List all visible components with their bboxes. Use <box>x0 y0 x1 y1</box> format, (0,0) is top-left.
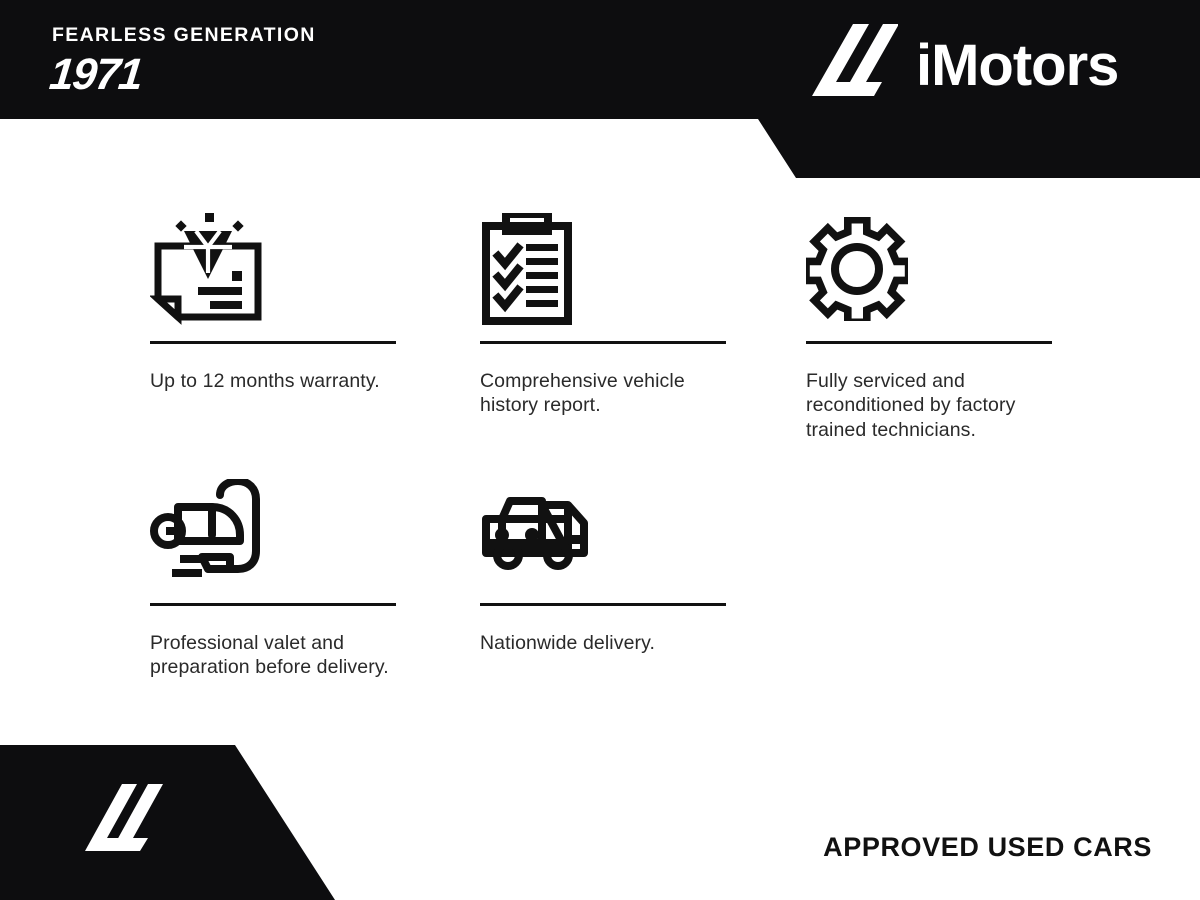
feature-card-delivery: Nationwide delivery. <box>480 472 726 655</box>
feature-text-history-report: Comprehensive vehicle history report. <box>480 369 726 418</box>
feature-divider <box>480 603 726 606</box>
footer-background-shape <box>0 745 1200 900</box>
brand-name-text: iMotors <box>916 37 1118 95</box>
car-transporter-truck-icon <box>480 472 726 590</box>
header-eyebrow-text: FEARLESS GENERATION <box>52 26 316 46</box>
warranty-certificate-diamond-icon <box>150 210 396 328</box>
feature-divider <box>150 603 396 606</box>
vacuum-cleaner-icon <box>150 472 396 590</box>
clipboard-checklist-icon <box>480 210 726 328</box>
brand-logo[interactable]: iMotors <box>812 22 1118 110</box>
page-header: FEARLESS GENERATION 1971 iMotors <box>0 0 1200 180</box>
feature-divider <box>480 341 726 344</box>
feature-card-warranty: Up to 12 months warranty. <box>150 210 396 393</box>
feature-card-history-report: Comprehensive vehicle history report. <box>480 210 726 418</box>
feature-text-servicing: Fully serviced and reconditioned by fact… <box>806 369 1052 442</box>
page-footer: APPROVED USED CARS <box>0 740 1200 900</box>
feature-divider <box>806 341 1052 344</box>
feature-text-delivery: Nationwide delivery. <box>480 631 726 655</box>
feature-grid: Up to 12 months warranty. <box>0 180 1200 740</box>
imotors-chevron-logo-icon <box>812 22 898 110</box>
feature-text-warranty: Up to 12 months warranty. <box>150 369 396 393</box>
gear-cog-icon <box>806 210 1052 328</box>
header-year-graphic: 1971 <box>47 53 315 97</box>
feature-card-valet: Professional valet and preparation befor… <box>150 472 396 680</box>
feature-card-servicing: Fully serviced and reconditioned by fact… <box>806 210 1052 442</box>
feature-divider <box>150 341 396 344</box>
feature-text-valet: Professional valet and preparation befor… <box>150 631 396 680</box>
fearless-generation-block: FEARLESS GENERATION 1971 <box>52 26 316 97</box>
footer-tagline-text: APPROVED USED CARS <box>823 832 1152 863</box>
